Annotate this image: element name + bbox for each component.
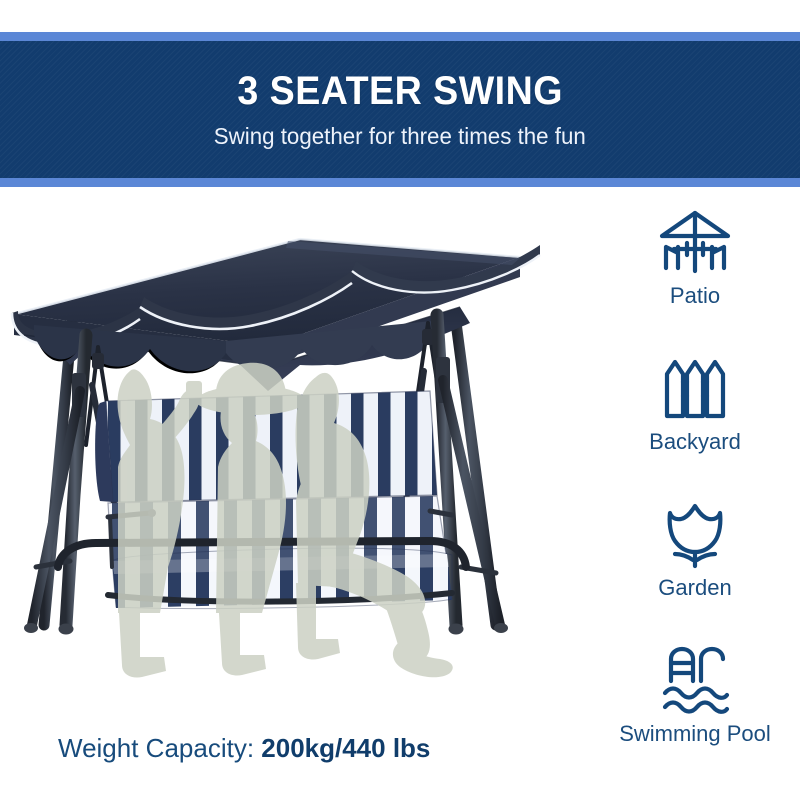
weight-capacity: Weight Capacity: 200kg/440 lbs <box>58 733 430 764</box>
feature-list: Patio Backyard <box>590 205 800 790</box>
feature-item-backyard: Backyard <box>590 351 800 497</box>
feature-label-patio: Patio <box>670 285 720 307</box>
header-banner: 3 SEATER SWING Swing together for three … <box>0 32 800 187</box>
product-feature-graphic: 3 SEATER SWING Swing together for three … <box>0 0 800 800</box>
banner-top-stripe <box>0 32 800 41</box>
picket-fence-icon <box>659 351 731 425</box>
feature-label-swimming-pool: Swimming Pool <box>619 723 771 745</box>
page-title: 3 SEATER SWING <box>237 71 563 111</box>
feature-label-backyard: Backyard <box>649 431 741 453</box>
swing-illustration <box>0 195 590 715</box>
weight-capacity-value: 200kg/440 lbs <box>261 733 430 763</box>
patio-umbrella-table-icon <box>656 205 734 279</box>
pool-ladder-waves-icon <box>655 643 735 717</box>
banner-bottom-stripe <box>0 178 800 187</box>
product-image <box>0 195 590 715</box>
tulip-flower-icon <box>659 497 731 571</box>
weight-capacity-label: Weight Capacity: <box>58 733 261 763</box>
feature-item-garden: Garden <box>590 497 800 643</box>
feature-item-swimming-pool: Swimming Pool <box>590 643 800 789</box>
feature-item-patio: Patio <box>590 205 800 351</box>
banner-text-block: 3 SEATER SWING Swing together for three … <box>0 32 800 187</box>
page-subtitle: Swing together for three times the fun <box>214 125 586 148</box>
feature-label-garden: Garden <box>658 577 731 599</box>
